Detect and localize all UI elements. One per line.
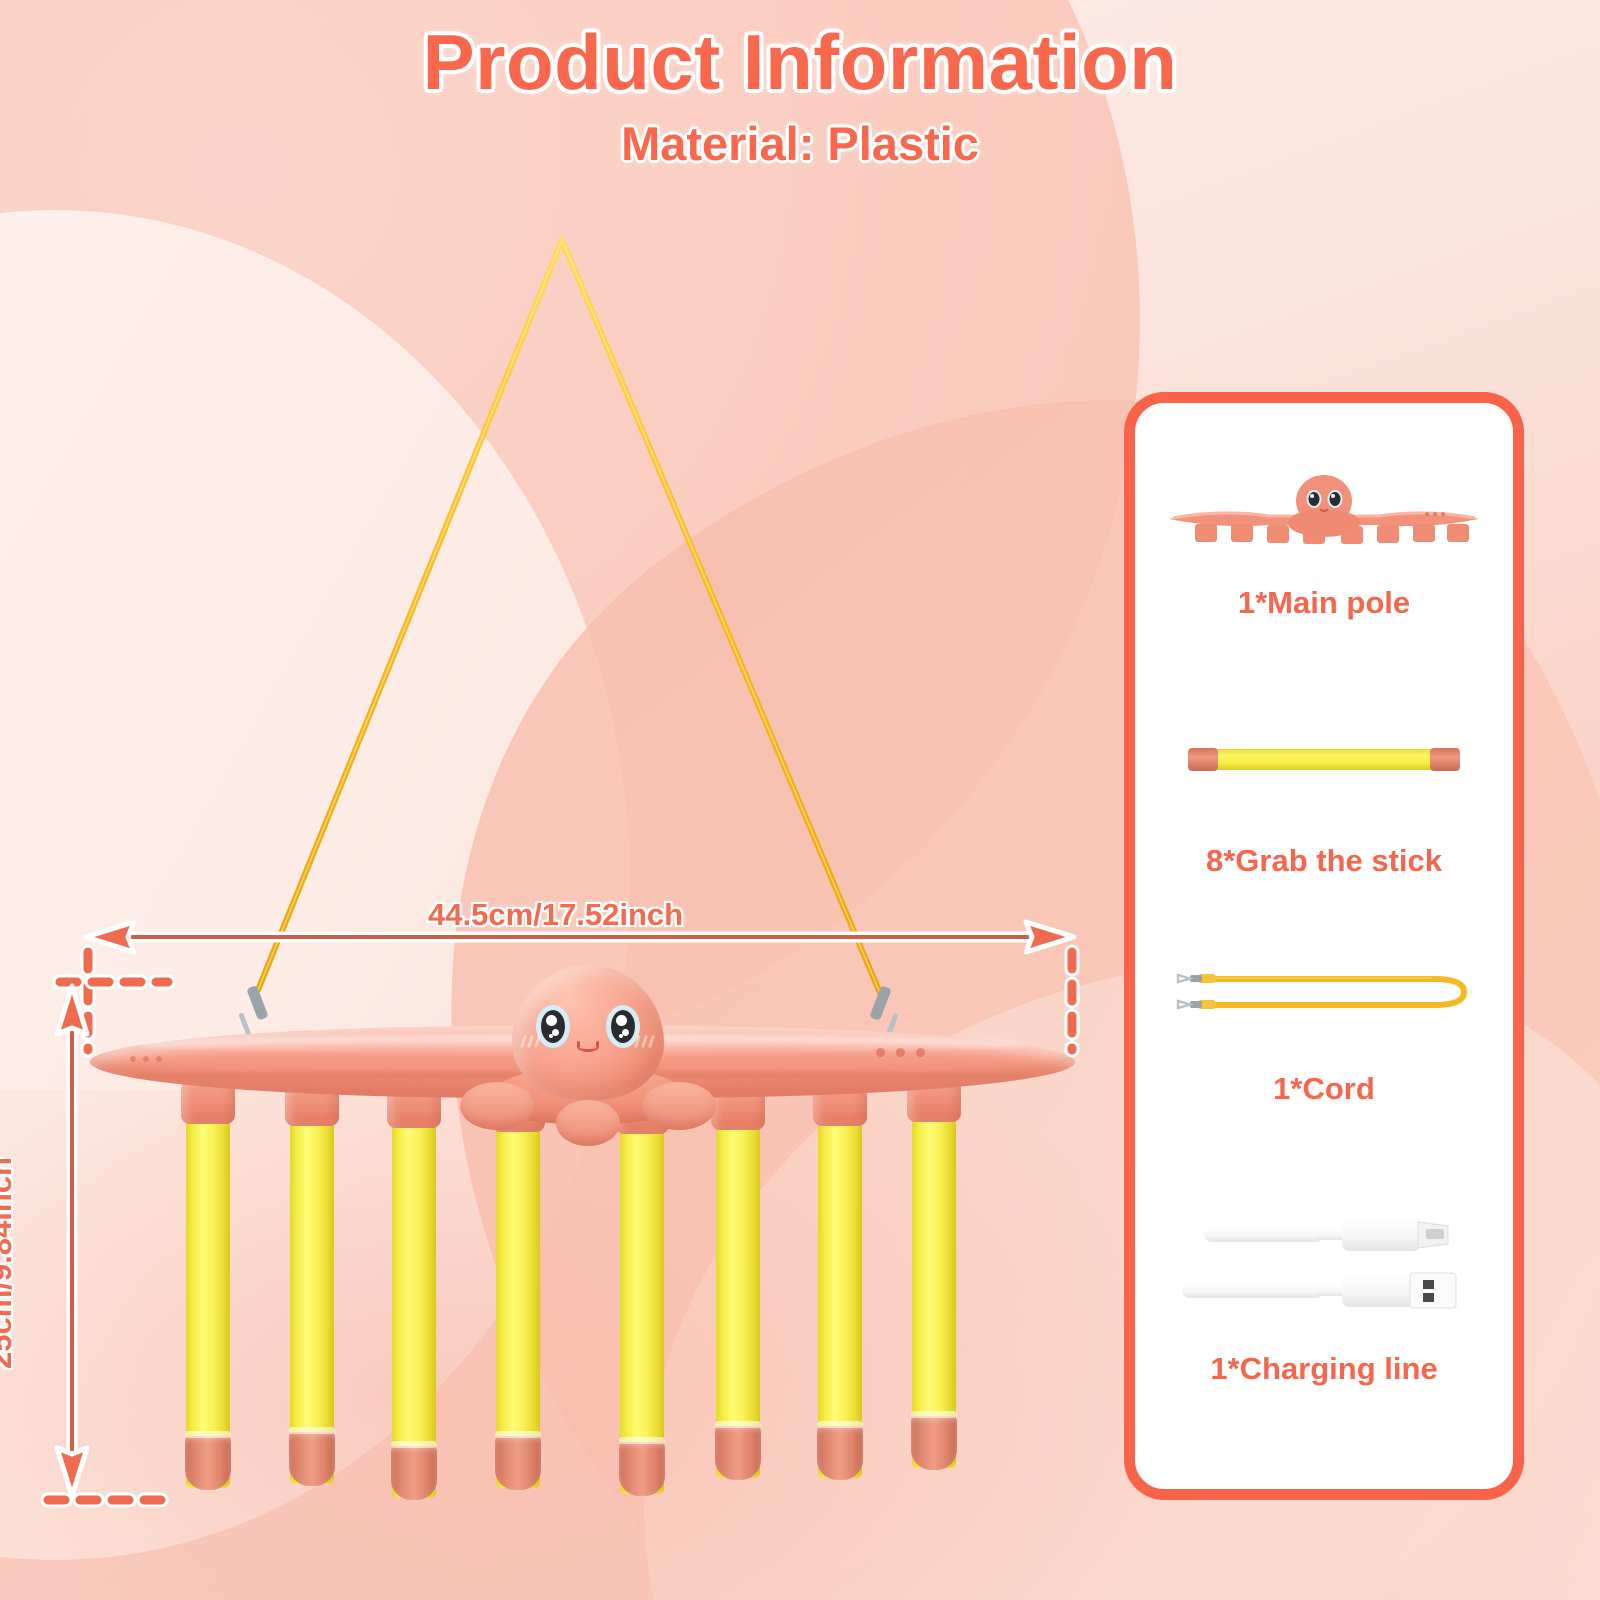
width-dimension-label: 44.5cm/17.52inch [428,897,683,933]
panel-item-grab-stick: 8*Grab the stick [1135,843,1513,879]
yellow-cord-icon [1164,957,1484,1027]
page-title: Product Information [0,22,1600,104]
product-information-image: Product Information Material: Plastic [0,0,1600,1600]
yellow-stick-icon [1186,743,1462,777]
dimension-lines [0,0,1110,1600]
panel-item-main-pole: 1*Main pole [1135,585,1513,621]
height-dimension-label: 25cm/9.84inch [0,1157,19,1369]
panel-item-charging-line: 1*Charging line [1135,1351,1513,1387]
dimension-annotations: 44.5cm/17.52inch 25cm/9.84inch [0,0,1110,1600]
octopus-rack-icon [1159,463,1489,563]
usb-charging-cable-icon [1164,1203,1484,1323]
panel-label-cord: 1*Cord [1273,1071,1375,1106]
header-block: Product Information Material: Plastic [0,22,1600,171]
panel-label-charging-line: 1*Charging line [1210,1351,1437,1386]
panel-item-cord: 1*Cord [1135,1071,1513,1107]
panel-label-grab-stick: 8*Grab the stick [1206,843,1442,878]
material-subtitle: Material: Plastic [0,116,1600,171]
accessories-panel: 1*Main pole 8*Grab t [1124,392,1524,1500]
panel-label-main-pole: 1*Main pole [1238,585,1410,620]
